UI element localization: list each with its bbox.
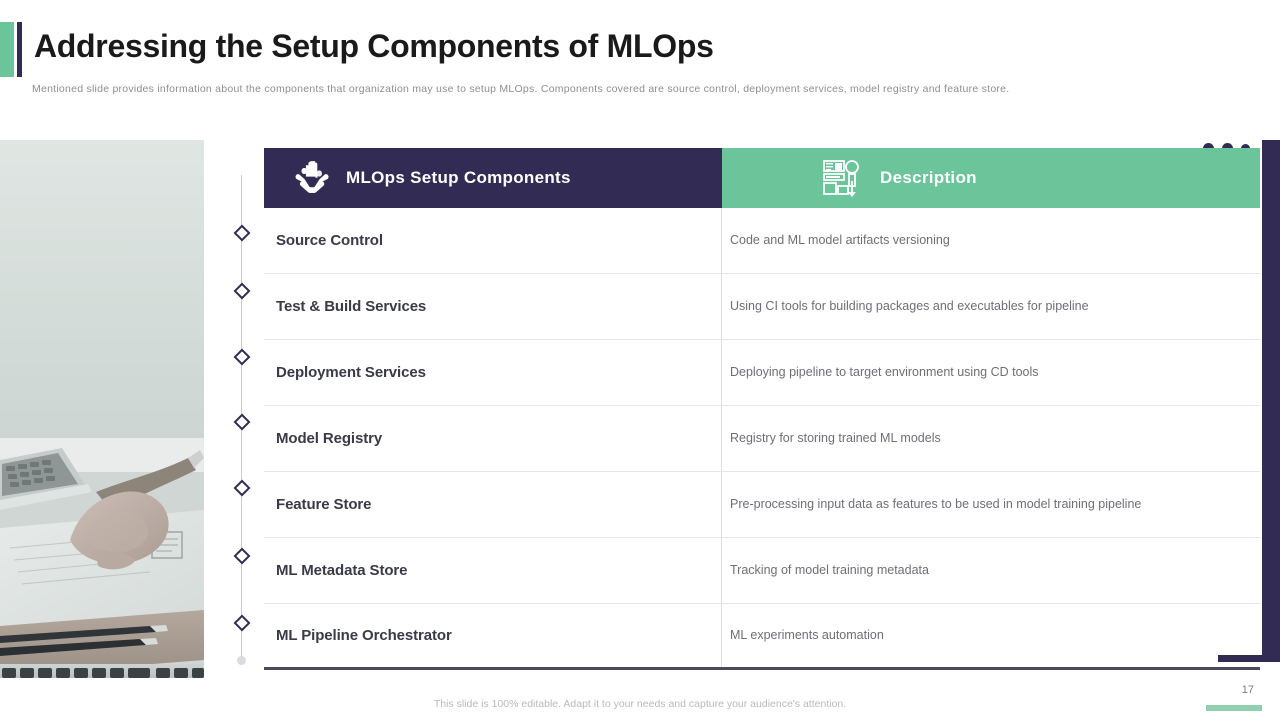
footer-note: This slide is 100% editable. Adapt it to… (0, 698, 1280, 710)
laptop-writing-illustration (0, 140, 204, 678)
component-description: Code and ML model artifacts versioning (722, 208, 1260, 273)
component-name: Feature Store (264, 472, 722, 537)
component-description: Tracking of model training metadata (722, 538, 1260, 603)
timeline-end-dot (237, 656, 246, 665)
component-name: Test & Build Services (264, 274, 722, 339)
component-description: Deploying pipeline to target environment… (722, 340, 1260, 405)
table-row[interactable]: ML Pipeline Orchestrator ML experiments … (264, 604, 1260, 670)
table-header-components-label: MLOps Setup Components (346, 168, 571, 188)
row-marker-diamond (234, 480, 251, 497)
decorative-photo (0, 140, 204, 678)
right-edge-accent-bar (1262, 140, 1280, 660)
table-row[interactable]: Feature Store Pre-processing input data … (264, 472, 1260, 538)
footer-accent-bar-navy (1218, 655, 1280, 662)
page-title: Addressing the Setup Components of MLOps (34, 28, 714, 65)
component-description: Registry for storing trained ML models (722, 406, 1260, 471)
component-description: ML experiments automation (722, 604, 1260, 667)
table-row[interactable]: ML Metadata Store Tracking of model trai… (264, 538, 1260, 604)
title-accent-bar-green (0, 22, 14, 77)
components-table: MLOps Setup Components (264, 148, 1260, 670)
row-marker-diamond (234, 548, 251, 565)
component-description: Pre-processing input data as features to… (722, 472, 1260, 537)
row-marker-diamond (234, 283, 251, 300)
row-marker-diamond (234, 615, 251, 632)
component-description: Using CI tools for building packages and… (722, 274, 1260, 339)
table-header-row: MLOps Setup Components (264, 148, 1260, 208)
table-row[interactable]: Source Control Code and ML model artifac… (264, 208, 1260, 274)
report-document-icon (822, 159, 862, 197)
table-header-components: MLOps Setup Components (264, 148, 722, 208)
row-marker-diamond (234, 349, 251, 366)
page-subtitle: Mentioned slide provides information abo… (32, 83, 1212, 95)
page-number: 17 (1242, 684, 1254, 696)
title-accent-bar-navy (17, 22, 22, 77)
component-name: Model Registry (264, 406, 722, 471)
table-row[interactable]: Model Registry Registry for storing trai… (264, 406, 1260, 472)
row-marker-diamond (234, 225, 251, 242)
component-name: Deployment Services (264, 340, 722, 405)
table-header-description-label: Description (880, 168, 977, 188)
hands-holding-puzzle-icon (292, 160, 332, 196)
table-row[interactable]: Test & Build Services Using CI tools for… (264, 274, 1260, 340)
component-name: Source Control (264, 208, 722, 273)
table-header-description: Description (722, 148, 1260, 208)
component-name: ML Metadata Store (264, 538, 722, 603)
row-marker-diamond (234, 414, 251, 431)
component-name: ML Pipeline Orchestrator (264, 604, 722, 667)
table-row[interactable]: Deployment Services Deploying pipeline t… (264, 340, 1260, 406)
